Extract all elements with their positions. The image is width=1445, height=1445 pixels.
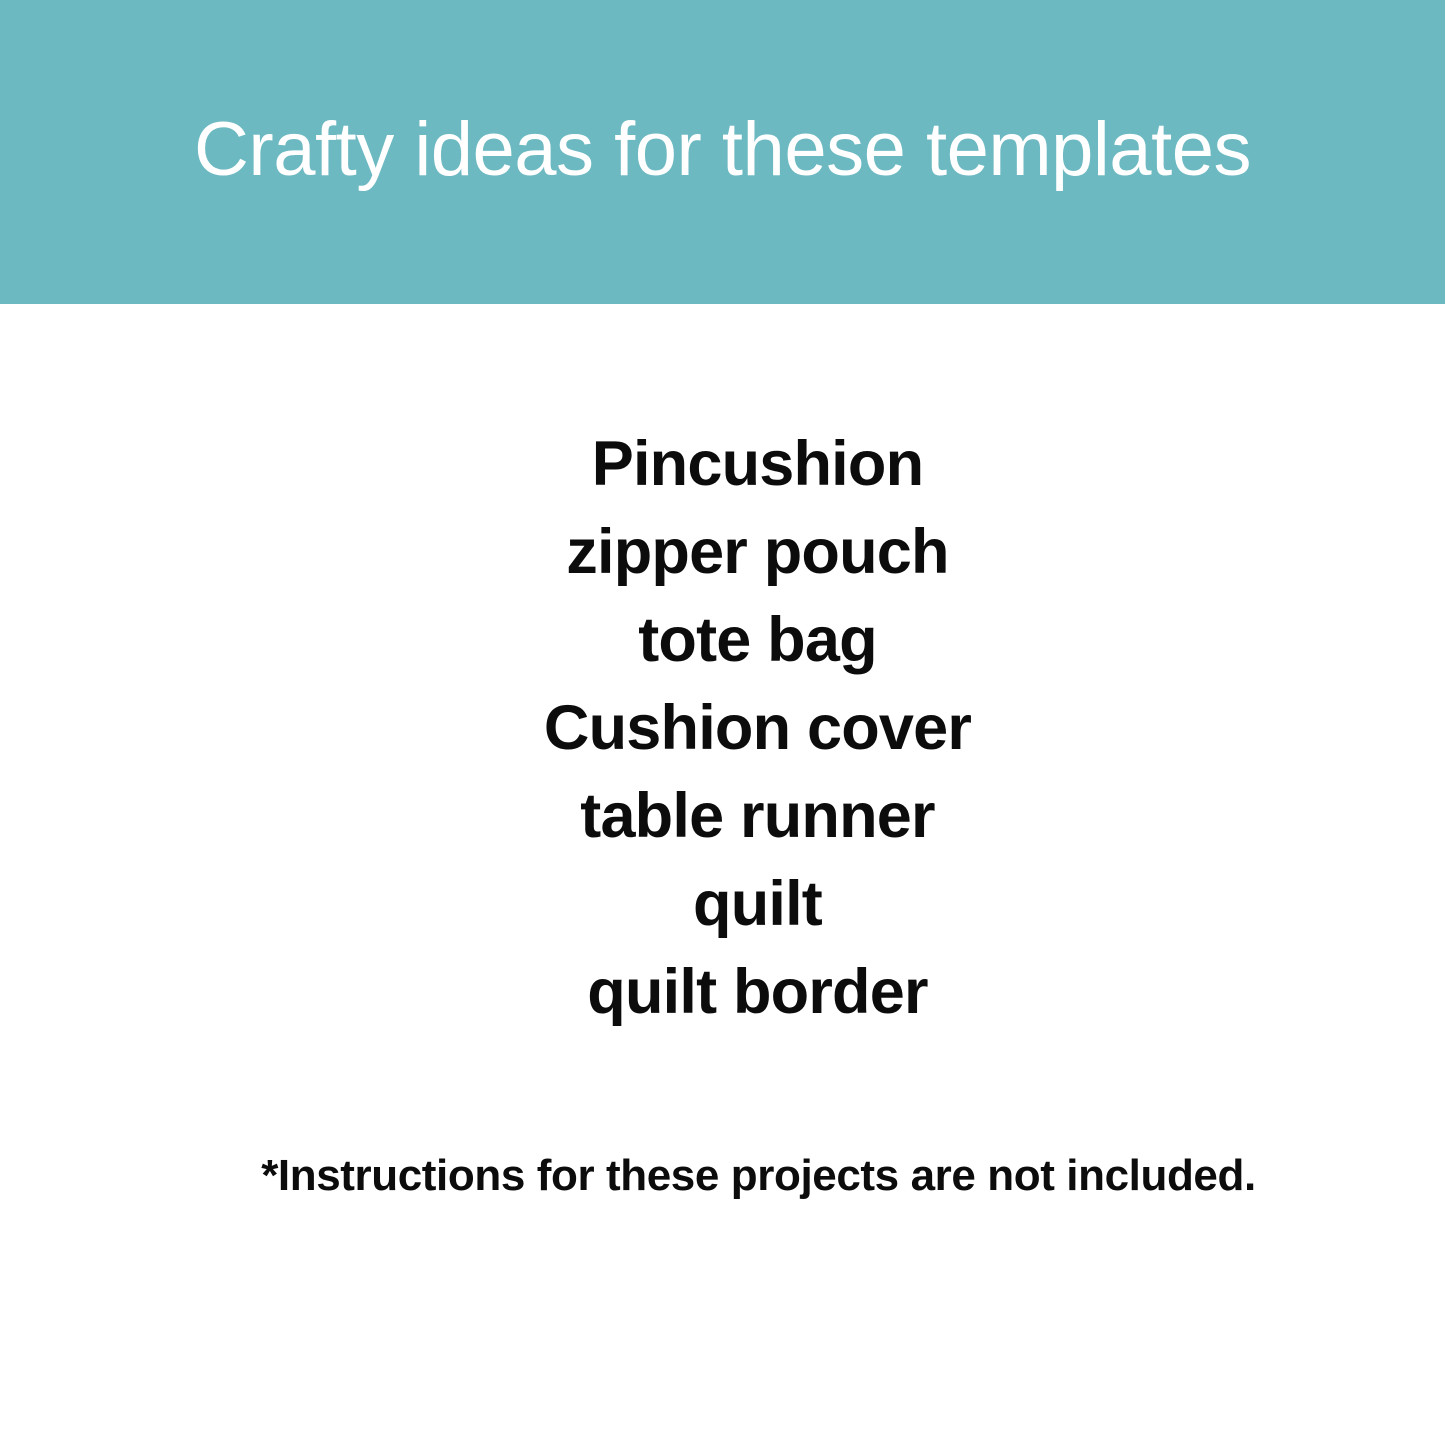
crafty-ideas-list: Pincushion zipper pouch tote bag Cushion… [0,420,1445,1036]
list-item: Pincushion [35,420,1445,508]
promo-graphic-page: Crafty ideas for these templates Pincush… [0,0,1445,1445]
header-banner: Crafty ideas for these templates [0,0,1445,304]
footnote-disclaimer: *Instructions for these projects are not… [0,1152,1445,1200]
content-area: Pincushion zipper pouch tote bag Cushion… [0,304,1445,1445]
list-item: quilt border [35,948,1445,1036]
list-item: Cushion cover [35,684,1445,772]
list-item: quilt [35,860,1445,948]
footnote-text: *Instructions for these projects are not… [261,1152,1256,1200]
list-item: zipper pouch [35,508,1445,596]
page-title: Crafty ideas for these templates [194,112,1251,188]
list-item: table runner [35,772,1445,860]
list-item: tote bag [35,596,1445,684]
